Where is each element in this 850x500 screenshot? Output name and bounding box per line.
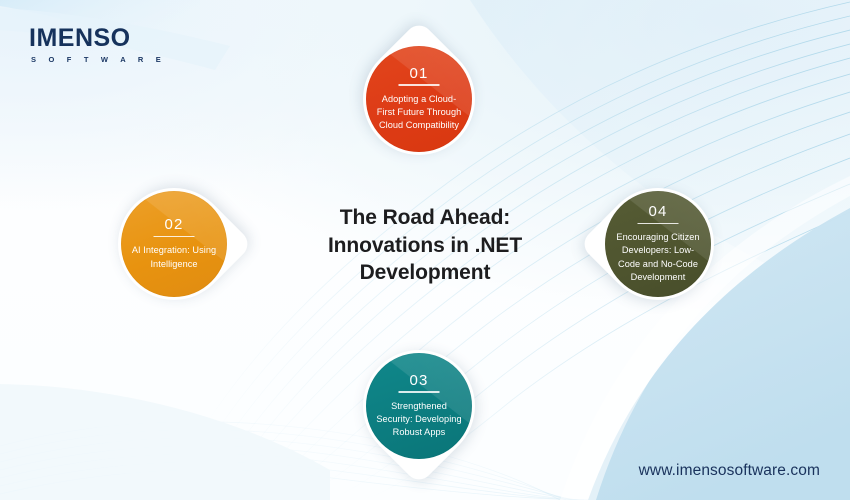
logo-tagline: S O F T W A R E bbox=[29, 56, 166, 64]
pin-item-01[interactable]: 01 Adopting a Cloud-First Future Through… bbox=[349, 29, 489, 169]
pin-label-01: Adopting a Cloud-First Future Through Cl… bbox=[375, 93, 463, 132]
pin-item-02[interactable]: 02 AI Integration: Using Intelligence bbox=[104, 174, 244, 314]
pin-number-01: 01 bbox=[409, 66, 428, 86]
infographic-title: The Road Ahead: Innovations in .NET Deve… bbox=[296, 204, 554, 287]
company-logo: IMENSO S O F T W A R E bbox=[29, 26, 166, 64]
pin-disc-02: 02 AI Integration: Using Intelligence bbox=[121, 191, 227, 297]
pin-item-03[interactable]: 03 Strengthened Security: Developing Rob… bbox=[349, 336, 489, 476]
website-url: www.imensosoftware.com bbox=[639, 462, 820, 480]
pin-number-03: 03 bbox=[409, 373, 428, 393]
pin-disc-03: 03 Strengthened Security: Developing Rob… bbox=[366, 353, 472, 459]
pin-disc-04: 04 Encouraging Citizen Developers: Low-C… bbox=[605, 191, 711, 297]
pin-label-03: Strengthened Security: Developing Robust… bbox=[375, 400, 463, 439]
infographic-canvas: IMENSO S O F T W A R E 01 Adopting a Clo… bbox=[0, 0, 850, 500]
pin-label-04: Encouraging Citizen Developers: Low-Code… bbox=[614, 231, 702, 283]
pin-disc-01: 01 Adopting a Cloud-First Future Through… bbox=[366, 46, 472, 152]
pin-number-02: 02 bbox=[164, 217, 183, 237]
pin-label-02: AI Integration: Using Intelligence bbox=[130, 244, 218, 270]
pin-item-04[interactable]: 04 Encouraging Citizen Developers: Low-C… bbox=[588, 174, 728, 314]
pin-number-04: 04 bbox=[648, 204, 667, 224]
logo-wordmark: IMENSO bbox=[29, 26, 166, 51]
